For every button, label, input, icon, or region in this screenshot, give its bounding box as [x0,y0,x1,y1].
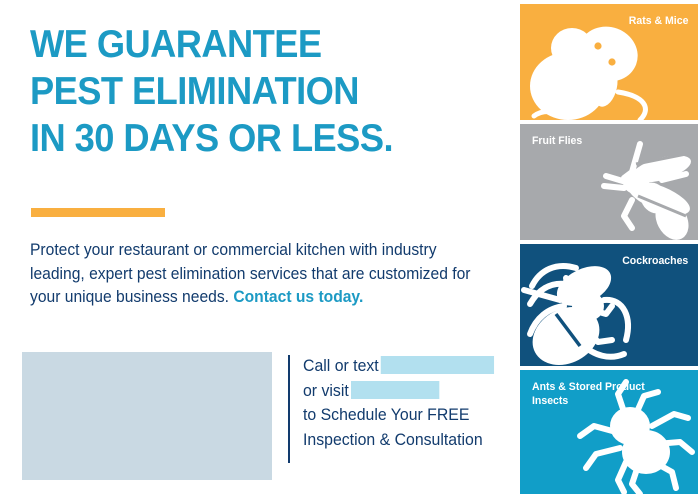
pest-card-label: Ants & Stored Product Insects [532,381,645,408]
pest-card-ants-stored-product-insects[interactable]: Ants & Stored Product Insects [520,370,698,494]
pest-card-cockroaches[interactable]: Cockroaches [520,244,698,366]
pest-card-label: Cockroaches [622,255,688,269]
cta-vertical-divider [288,355,290,463]
pest-elimination-ad-banner: WE GUARANTEE PEST ELIMINATION IN 30 DAYS… [0,0,700,494]
cta-line-call-or-text: Call or text [303,354,505,379]
left-content-panel: WE GUARANTEE PEST ELIMINATION IN 30 DAYS… [0,0,518,494]
body-paragraph: Protect your restaurant or commercial ki… [30,239,474,310]
logo-placeholder-box [22,352,272,480]
pest-card-rats-and-mice[interactable]: Rats & Mice [520,4,698,120]
cta-line-schedule: to Schedule Your FREE [303,403,505,428]
page-title: WE GUARANTEE PEST ELIMINATION IN 30 DAYS… [30,21,467,162]
cta-text-block: Call or text or visit to Schedule Your F… [303,354,505,452]
pest-card-label: Fruit Flies [532,135,582,149]
redacted-website-url [351,381,439,399]
cta-call-prefix: Call or text [303,357,379,375]
contact-us-link[interactable]: Contact us today. [233,288,363,306]
pest-card-label: Rats & Mice [628,15,688,29]
cta-visit-prefix: or visit [303,382,349,400]
cta-line-inspection: Inspection & Consultation [303,428,505,453]
cta-line-or-visit: or visit [303,379,505,404]
orange-accent-bar [31,208,165,217]
pest-card-fruit-flies[interactable]: Fruit Flies [520,124,698,240]
pest-category-rail: Rats & Mice [520,4,698,490]
redacted-phone-number [381,356,494,374]
